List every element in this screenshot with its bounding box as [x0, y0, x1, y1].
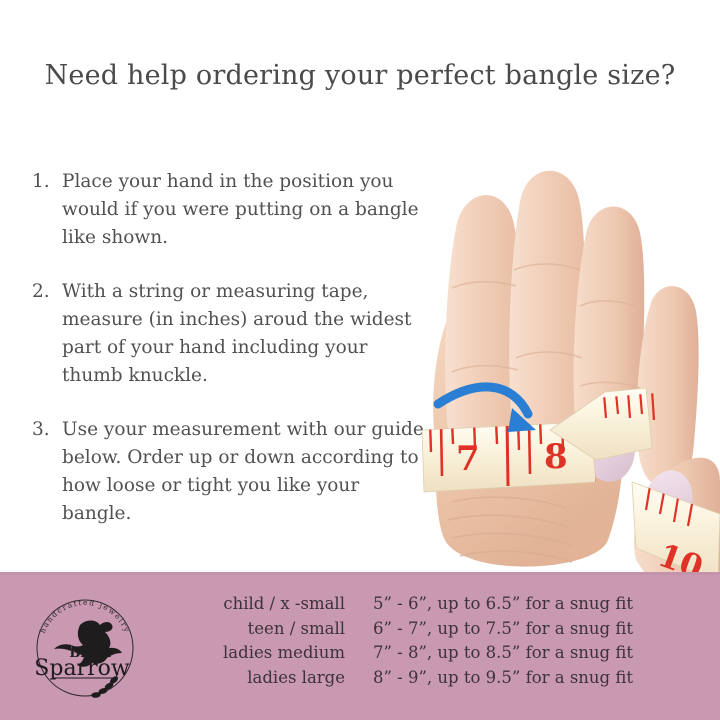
step-number: 1. [32, 168, 62, 196]
step-text: With a string or measuring tape, measure… [62, 278, 432, 390]
step-text: Place your hand in the position you woul… [62, 168, 432, 252]
size-value: 5” - 6”, up to 6.5” for a snug fit [373, 592, 690, 617]
list-item: 1. Place your hand in the position you w… [32, 168, 432, 252]
step-text: Use your measurement with our guide belo… [62, 416, 432, 528]
size-label: ladies large [180, 666, 345, 691]
size-label: child / x -small [180, 592, 345, 617]
size-chart-table: child / x -small 5” - 6”, up to 6.5” for… [180, 592, 690, 690]
size-value: 6” - 7”, up to 7.5” for a snug fit [373, 617, 690, 642]
banner-top-edge [0, 572, 720, 575]
size-label: teen / small [180, 617, 345, 642]
step-number: 3. [32, 416, 62, 444]
size-value: 8” - 9”, up to 9.5” for a snug fit [373, 666, 690, 691]
list-item: 3. Use your measurement with our guide b… [32, 416, 432, 528]
pinky-finger [637, 286, 699, 486]
tape-number-8: 8 [544, 437, 568, 477]
instruction-list: 1. Place your hand in the position you w… [32, 168, 432, 554]
size-label: ladies medium [180, 641, 345, 666]
bangle-size-guide-page: Need help ordering your perfect bangle s… [0, 0, 720, 720]
page-title: Need help ordering your perfect bangle s… [0, 60, 720, 91]
step-number: 2. [32, 278, 62, 306]
brand-logo: handcrafted jewelry Black Sparrow [22, 585, 148, 711]
list-item: 2. With a string or measuring tape, meas… [32, 278, 432, 390]
hand-measuring-photo: 7 8 [400, 130, 720, 572]
tape-number-7: 7 [456, 439, 480, 479]
size-value: 7” - 8”, up to 8.5” for a snug fit [373, 641, 690, 666]
